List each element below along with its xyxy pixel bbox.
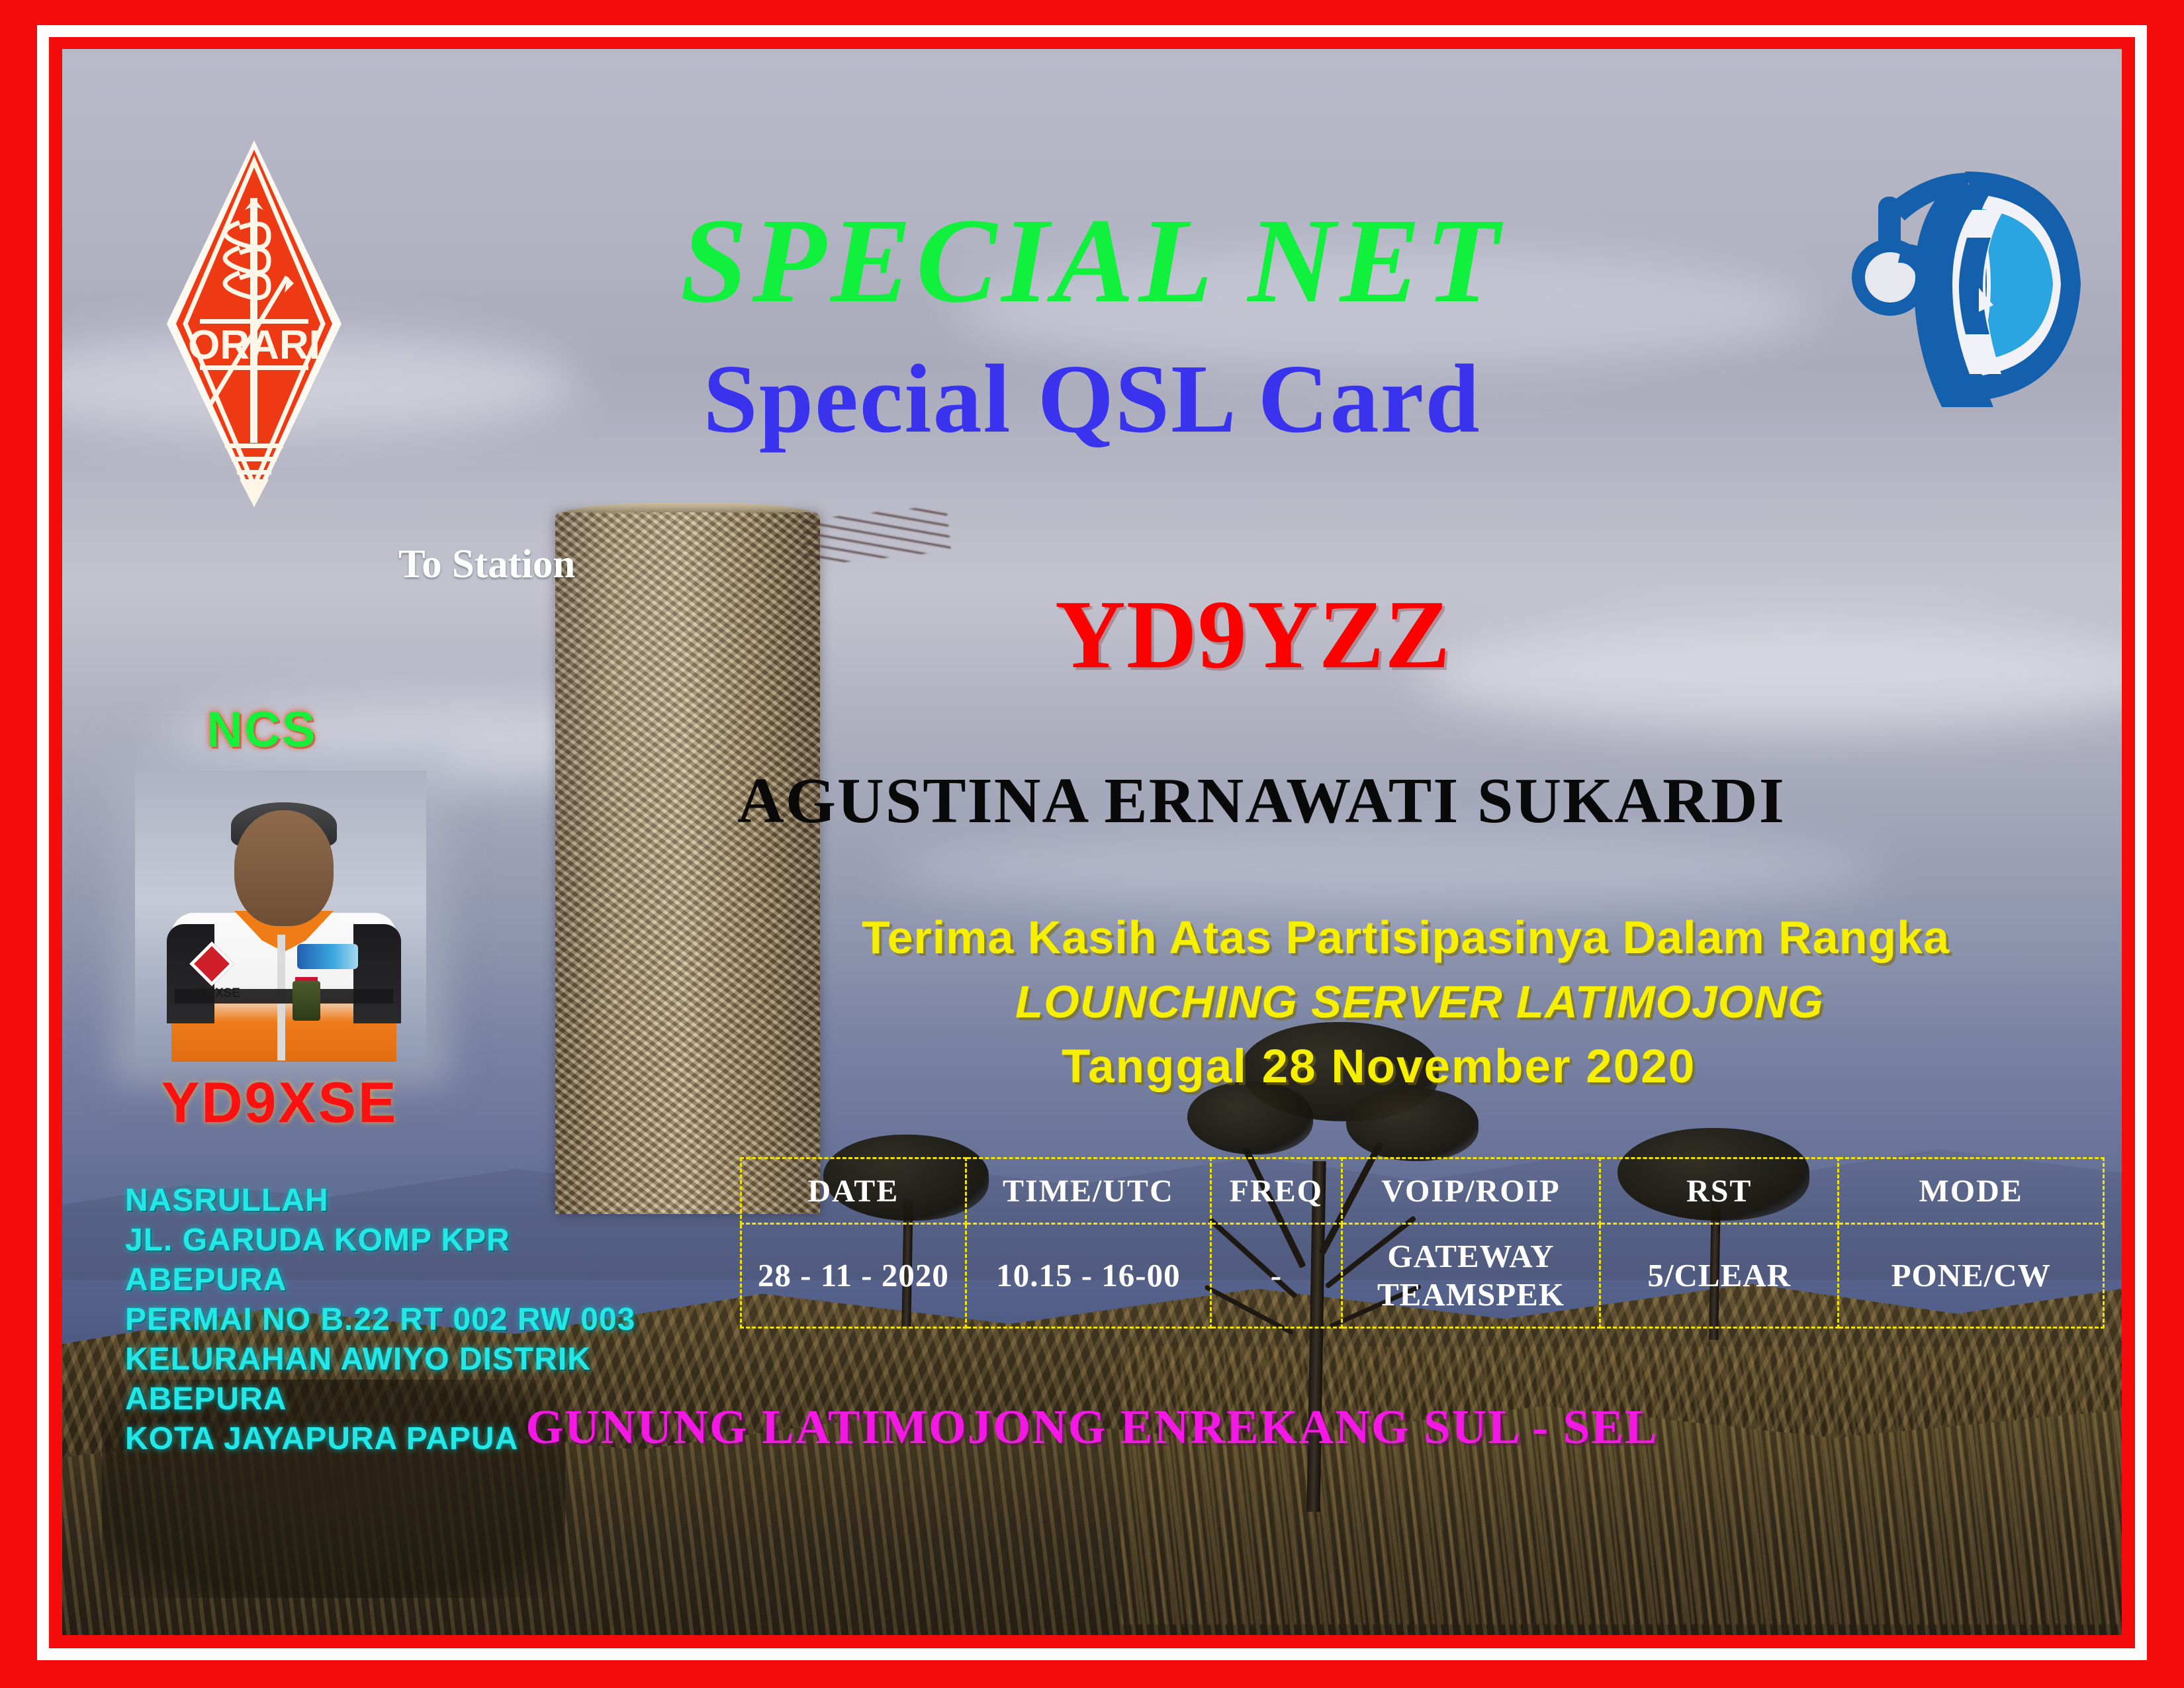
radio-headphone-head-icon <box>1849 158 2094 410</box>
orari-logo: ORARI <box>161 135 347 512</box>
table-cell: 5/CLEAR <box>1600 1224 1839 1328</box>
table-row: 28 - 11 - 202010.15 - 16-00-GATEWAYTEAMS… <box>741 1224 2104 1328</box>
table-header-voip-roip: VOIP/ROIP <box>1342 1158 1600 1224</box>
address-line: NASRULLAH <box>125 1181 635 1221</box>
table-header-date: DATE <box>741 1158 966 1224</box>
card-photo-area: ORARI <box>62 49 2122 1635</box>
card-inner-red-frame: ORARI <box>49 37 2135 1648</box>
table-cell: PONE/CW <box>1839 1224 2104 1328</box>
card-white-gap: ORARI <box>37 25 2147 1660</box>
web-address: Address : amatir.latimojong.com <box>1340 1626 1990 1635</box>
event-date: Tanggal 28 November 2020 <box>1062 1040 1696 1094</box>
orari-logo-text: ORARI <box>188 322 320 368</box>
qsl-card: ORARI <box>0 0 2184 1688</box>
shirt-callsign-text: YD9XSE <box>191 986 240 1001</box>
table-header-mode: MODE <box>1839 1158 2104 1224</box>
address-line: JL. GARUDA KOMP KPR <box>125 1221 635 1260</box>
table-header-rst: RST <box>1600 1158 1839 1224</box>
table-cell: GATEWAYTEAMSPEK <box>1342 1224 1600 1328</box>
to-station-label: To Station <box>398 541 575 588</box>
page-title: SPECIAL NET <box>680 200 1504 321</box>
table-header-time-utc: TIME/UTC <box>966 1158 1210 1224</box>
cloud <box>889 830 1882 910</box>
ncs-operator-photo: YD9XSE <box>135 771 426 1062</box>
stone-monument <box>555 512 820 1214</box>
table-cell: - <box>1211 1224 1342 1328</box>
address-line: KELURAHAN AWIYO DISTRIK <box>125 1340 635 1380</box>
table-header-freq: FREQ <box>1211 1158 1342 1224</box>
ncs-label: NCS <box>206 701 316 759</box>
table-cell: 28 - 11 - 2020 <box>741 1224 966 1328</box>
table-cell: 10.15 - 16-00 <box>966 1224 1210 1328</box>
motto-text: "AMATIR RADIO ADALAH PROGRESIVE" <box>140 1626 1069 1635</box>
id-badge-icon <box>293 981 320 1021</box>
page-subtitle: Special QSL Card <box>703 350 1480 448</box>
event-title: LOUNCHING SERVER LATIMOJONG <box>1015 976 1824 1028</box>
shirt-logo-patch-icon <box>297 944 358 969</box>
thanks-line: Terima Kasih Atas Partisipasinya Dalam R… <box>862 911 1950 964</box>
address-line: PERMAI NO B.22 RT 002 RW 003 <box>125 1300 635 1340</box>
qso-log-table: DATETIME/UTCFREQVOIP/ROIPRSTMODE 28 - 11… <box>740 1157 2105 1329</box>
ncs-callsign: YD9XSE <box>161 1070 398 1136</box>
station-callsign: YD9YZZ <box>1055 579 1451 691</box>
table-body: 28 - 11 - 202010.15 - 16-00-GATEWAYTEAMS… <box>741 1224 2104 1328</box>
operator-name: AGUSTINA ERNAWATI SUKARDI <box>737 764 1786 838</box>
location-label: GUNUNG LATIMOJONG ENREKANG SUL - SEL <box>525 1399 1658 1455</box>
address-line: ABEPURA <box>125 1260 635 1300</box>
table-header-row: DATETIME/UTCFREQVOIP/ROIPRSTMODE <box>741 1158 2104 1224</box>
